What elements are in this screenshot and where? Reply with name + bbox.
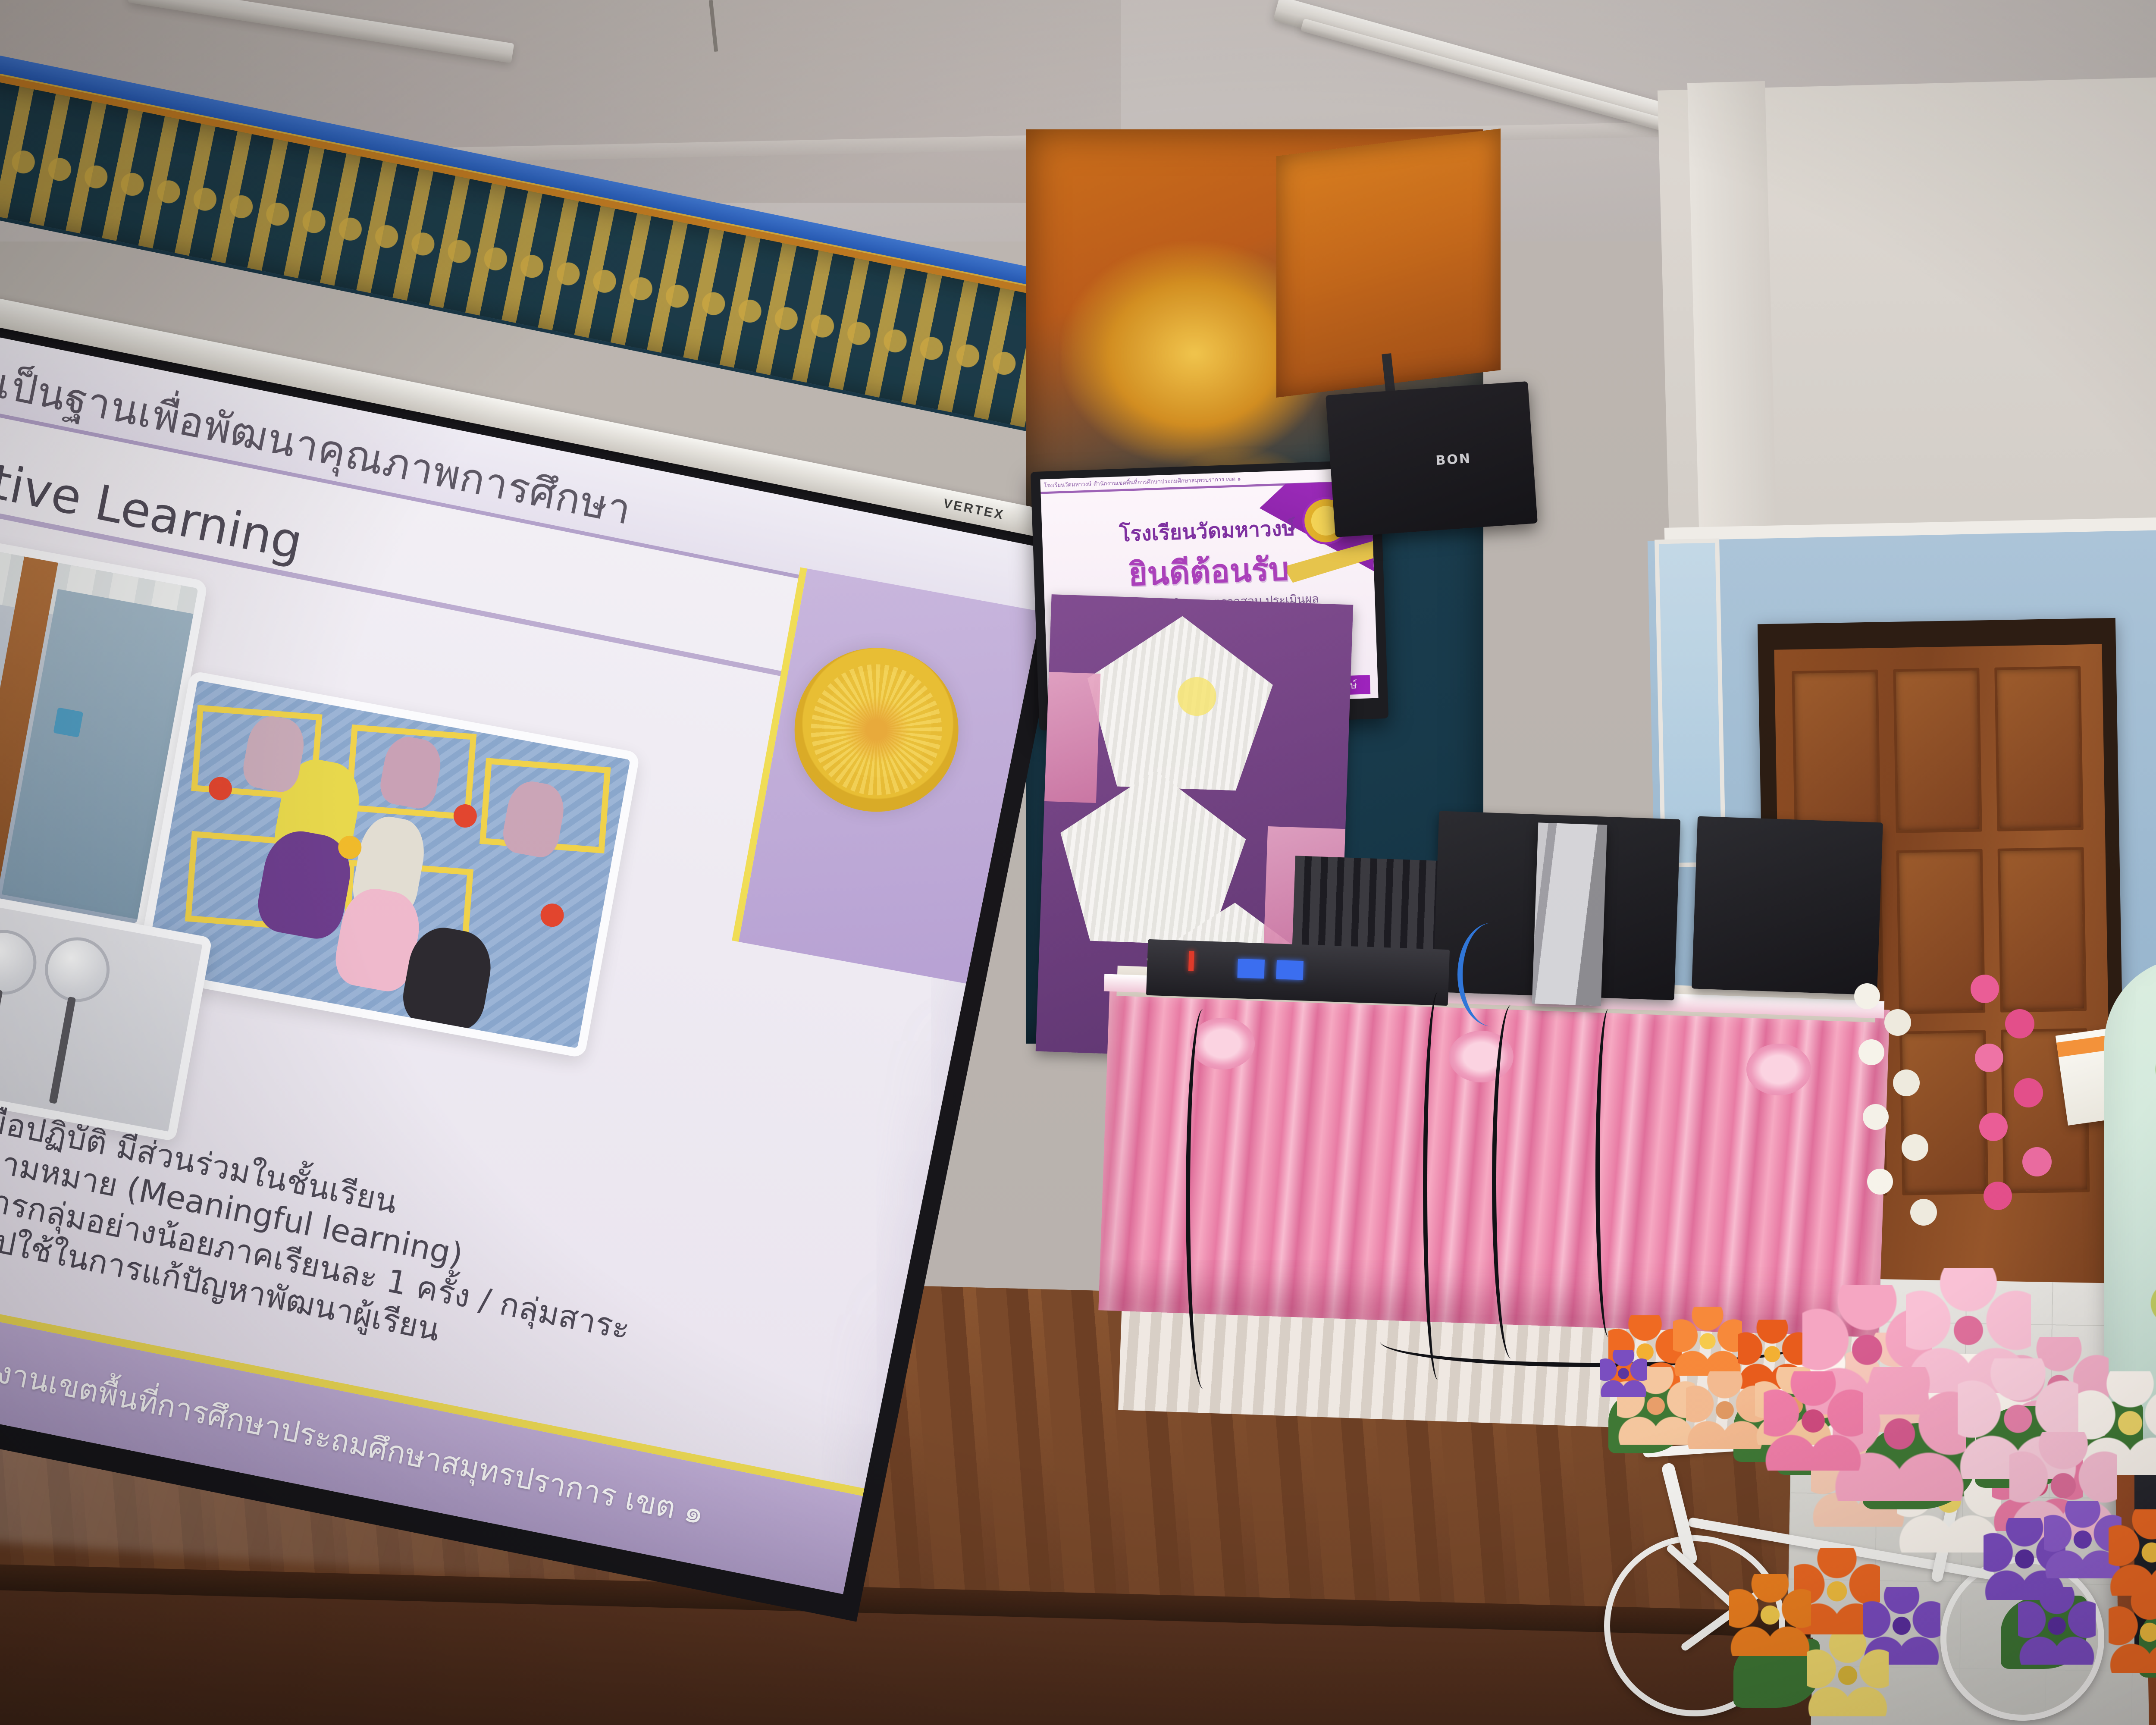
slide-photo-group-activity [135, 671, 640, 1059]
cable [1595, 1009, 1621, 1337]
cable [1492, 1005, 1531, 1358]
auditorium-scene: VERTEX การโดยใช้พื้นที่เป็นฐานเพื่อพัฒนา… [0, 0, 2156, 1725]
emblem-rays-icon [799, 652, 954, 807]
fabric-bow [1746, 1044, 1811, 1095]
audio-mixer[interactable] [1146, 939, 1450, 1006]
flower-bouquet-foreground [1708, 1535, 1966, 1725]
flower-bouquet-purple-orange [1966, 1483, 2156, 1708]
projector-screen-brand-label: VERTEX [942, 496, 1006, 523]
cable [1186, 1009, 1220, 1389]
speaker-brand-label: BON [1435, 451, 1472, 468]
wall-speaker: BON [1326, 381, 1538, 537]
pink-hanging-blossom-decor [1958, 970, 2104, 1298]
pc-tower [1532, 822, 1608, 1006]
rack-equipment [1292, 856, 1438, 960]
network-cable [1457, 923, 1526, 1026]
computer-monitor [1692, 816, 1883, 995]
